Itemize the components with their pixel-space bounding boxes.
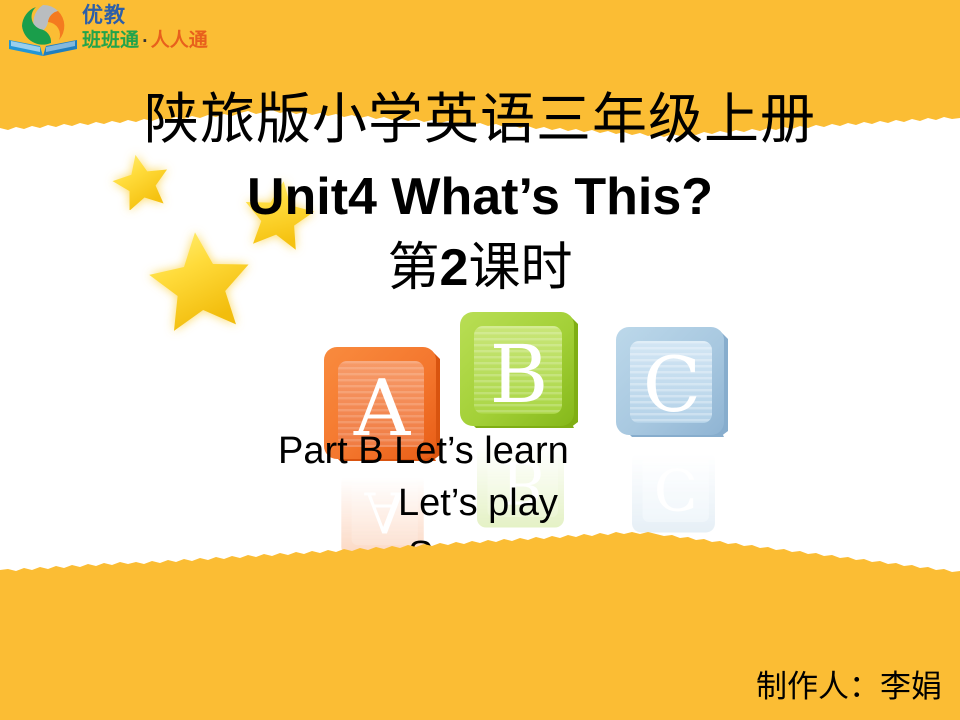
logo-separator-dot: · — [139, 32, 151, 50]
page-title-textbook: 陕旅版小学英语三年级上册 — [0, 88, 960, 150]
svg-text:C: C — [654, 455, 698, 522]
lesson-prefix: 第 — [388, 238, 440, 298]
lesson-number: 2 — [440, 239, 469, 297]
svg-text:C: C — [643, 340, 701, 429]
subtitle-line-lets-play: Let’s play — [398, 481, 558, 525]
swirl-book-icon — [6, 2, 80, 58]
svg-text:B: B — [490, 328, 549, 421]
subtitle-line-part-b: Part B Let’s learn — [278, 429, 569, 473]
logo-line-youjiao: 优教 — [82, 3, 262, 28]
author-credit: 制作人：李娟 — [756, 668, 942, 706]
subtitle-line-say-and-complete: Say and complete — [408, 533, 712, 577]
page-title-lesson: 第2课时 — [0, 238, 960, 298]
alphabet-block-b: B — [458, 308, 586, 436]
logo-line-banbantong: 班班通·人人通 — [82, 28, 262, 53]
brand-logo: 优教 班班通·人人通 — [6, 2, 266, 60]
slide-canvas: 优教 班班通·人人通 — [0, 0, 960, 720]
alphabet-block-c: C — [614, 323, 736, 445]
logo-wordmark: 优教 班班通·人人通 — [82, 3, 262, 59]
alphabet-block-c-reflection: C — [614, 445, 736, 537]
logo-text-banbantong: 班班通 — [82, 29, 139, 51]
logo-text-renrentong: 人人通 — [151, 29, 208, 51]
lesson-suffix: 课时 — [468, 238, 572, 298]
page-title-unit: Unit4 What’s This? — [0, 168, 960, 226]
